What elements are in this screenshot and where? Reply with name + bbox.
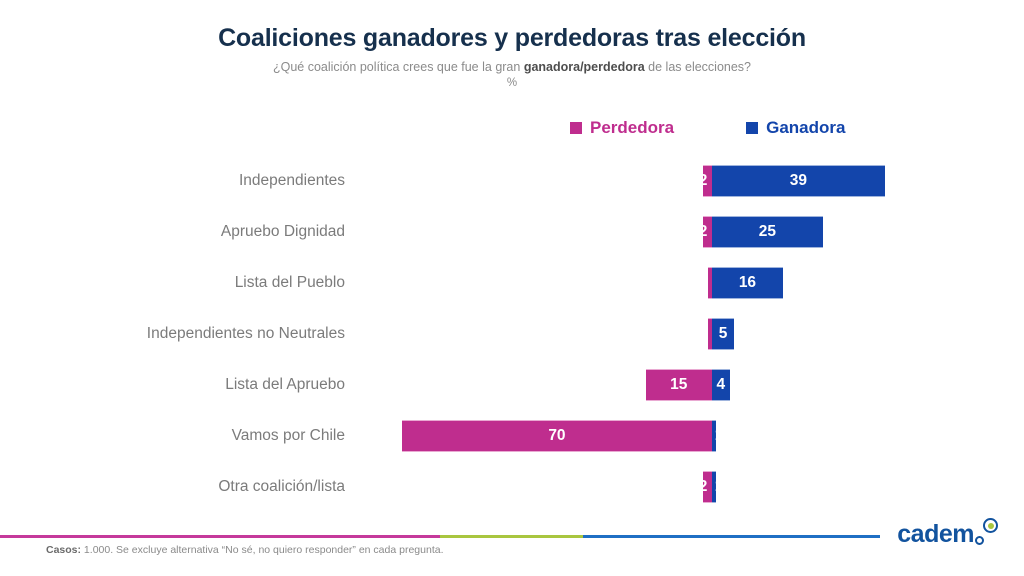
legend-label-perdedora: Perdedora [590,118,674,138]
footer-note-label: Casos: [46,544,81,556]
category-label: Lista del Pueblo [60,257,345,308]
footer-bar-segment-green [440,535,583,538]
page-title: Coaliciones ganadores y perdedoras tras … [0,24,1024,53]
logo-wordmark: cadem [897,522,974,547]
chart-row: Otra coalición/lista21 [0,461,1024,512]
category-label: Independientes no Neutrales [60,308,345,359]
chart-legend: Perdedora Ganadora [570,118,845,138]
category-label: Independientes [60,155,345,206]
bar-ganadora[interactable] [712,420,716,452]
subtitle-text-emphasis: ganadora/perdedora [524,60,645,74]
bar-perdedora[interactable] [402,420,712,452]
chart-plot-area: Independientes239Apruebo Dignidad225List… [0,155,1024,510]
legend-label-ganadora: Ganadora [766,118,845,138]
legend-item-perdedora[interactable]: Perdedora [570,118,674,138]
logo-circle-icon [983,518,998,533]
bar-ganadora[interactable] [712,471,716,503]
logo-small-circle-icon [975,536,984,545]
footer-color-bar [0,535,1024,538]
cadem-logo: cadem [897,522,998,547]
chart-header: Coaliciones ganadores y perdedoras tras … [0,24,1024,89]
bar-ganadora[interactable] [712,267,783,299]
footer-note-text: 1.000. Se excluye alternativa “No sé, no… [81,544,443,556]
chart-row: Lista del Apruebo154 [0,359,1024,410]
legend-swatch-icon-ganadora [746,122,758,134]
chart-subtitle: ¿Qué coalición política crees que fue la… [0,60,1024,75]
bar-perdedora[interactable] [703,216,712,248]
bar-ganadora[interactable] [712,369,730,401]
chart-row: Lista del Pueblo116 [0,257,1024,308]
category-label: Vamos por Chile [60,410,345,461]
bar-perdedora[interactable] [703,165,712,197]
chart-row: Independientes239 [0,155,1024,206]
bar-ganadora[interactable] [712,318,734,350]
category-label: Apruebo Dignidad [60,206,345,257]
bar-perdedora[interactable] [646,369,712,401]
footer-bar-segment-blue [583,535,880,538]
bar-ganadora[interactable] [712,216,823,248]
legend-item-ganadora[interactable]: Ganadora [746,118,845,138]
footer-note: Casos: 1.000. Se excluye alternativa “No… [46,544,444,556]
category-label: Lista del Apruebo [60,359,345,410]
subtitle-text-pre: ¿Qué coalición política crees que fue la… [273,60,524,74]
footer-bar-segment-magenta [0,535,440,538]
chart-unit-label: % [0,77,1024,89]
category-label: Otra coalición/lista [60,461,345,512]
legend-swatch-icon-perdedora [570,122,582,134]
bar-ganadora[interactable] [712,165,885,197]
bar-perdedora[interactable] [703,471,712,503]
subtitle-text-post: de las elecciones? [645,60,751,74]
chart-row: Vamos por Chile701 [0,410,1024,461]
chart-row: Independientes no Neutrales15 [0,308,1024,359]
chart-row: Apruebo Dignidad225 [0,206,1024,257]
